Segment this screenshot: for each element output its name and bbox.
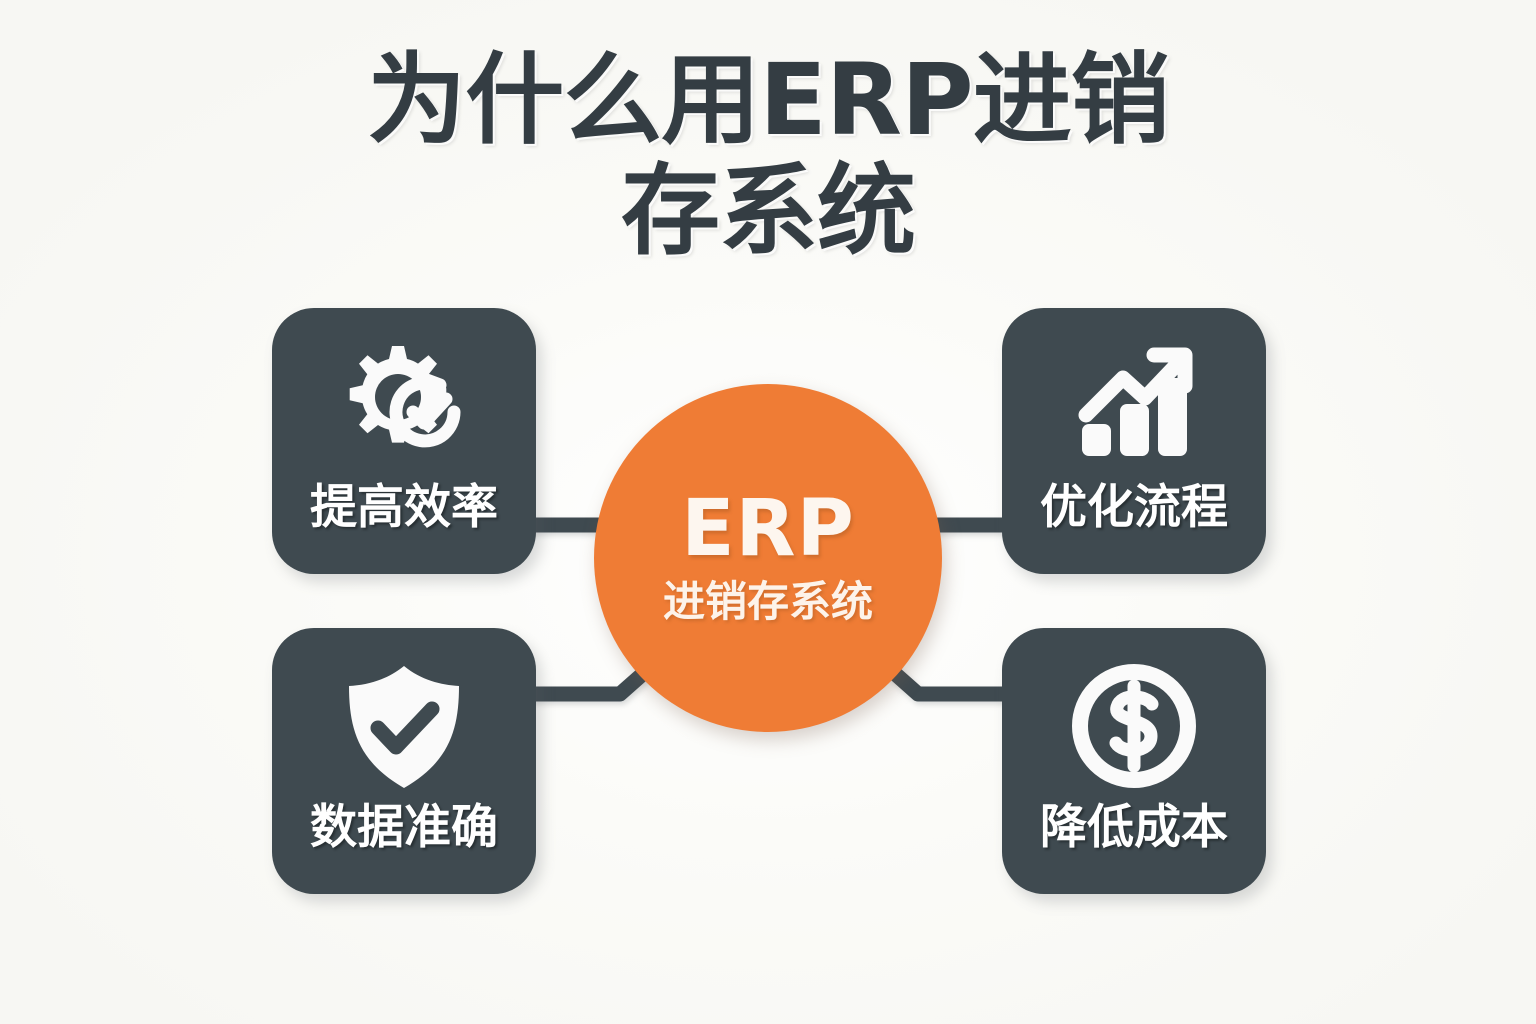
growth-bar-chart-arrow-icon (1059, 338, 1209, 478)
hub-title: ERP (681, 490, 855, 568)
benefit-card-label: 提高效率 (310, 484, 498, 531)
center-hub[interactable]: ERP 进销存系统 (594, 384, 942, 732)
benefit-card-accuracy[interactable]: 数据准确 (272, 628, 536, 894)
benefit-card-label: 数据准确 (310, 804, 498, 851)
benefit-card-efficiency[interactable]: 提高效率 (272, 308, 536, 574)
dollar-coin-icon (1059, 658, 1209, 798)
shield-check-icon (329, 658, 479, 798)
benefit-card-process[interactable]: 优化流程 (1002, 308, 1266, 574)
hub-subtitle: 进销存系统 (652, 578, 884, 625)
benefit-card-label: 降低成本 (1040, 804, 1228, 851)
benefit-card-cost[interactable]: 降低成本 (1002, 628, 1266, 894)
gear-refresh-check-icon (329, 338, 479, 478)
infographic-canvas: 为什么用ERP进销 存系统 ERP 进销存系统 (0, 0, 1536, 1024)
benefit-card-label: 优化流程 (1040, 484, 1228, 531)
